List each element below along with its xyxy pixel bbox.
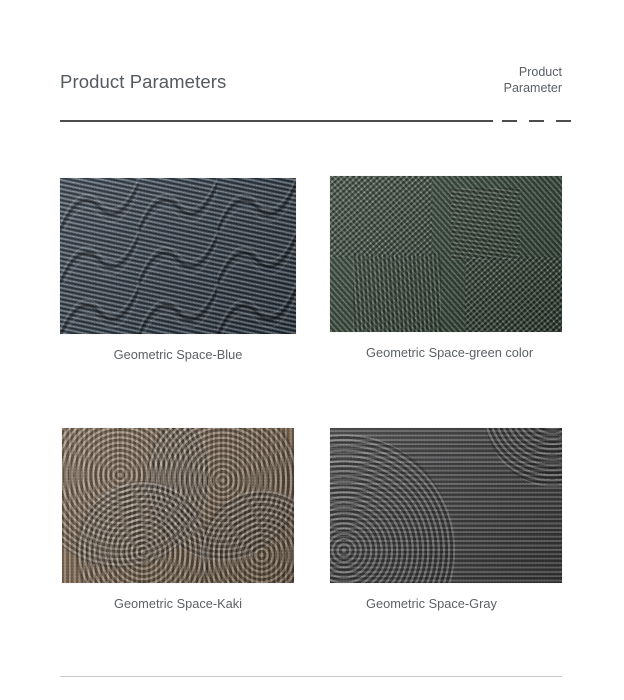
product-caption-gray: Geometric Space-Gray xyxy=(330,583,562,612)
product-swatch-blue[interactable] xyxy=(60,178,296,334)
product-card-green[interactable]: Geometric Space-green color xyxy=(330,176,562,361)
footer-divider xyxy=(60,676,562,677)
swatch-grain xyxy=(62,428,294,583)
product-caption-kaki: Geometric Space-Kaki xyxy=(62,583,294,612)
product-swatch-kaki[interactable] xyxy=(62,428,294,583)
product-swatch-green[interactable] xyxy=(330,176,562,332)
product-card-kaki[interactable]: Geometric Space-Kaki xyxy=(62,428,294,612)
product-card-blue[interactable]: Geometric Space-Blue xyxy=(60,178,296,363)
swatch-grain xyxy=(330,176,562,332)
product-caption-blue: Geometric Space-Blue xyxy=(60,334,296,363)
product-parameters-page: Product Parameters Product Parameter xyxy=(0,0,624,700)
swatch-grain xyxy=(330,428,562,583)
product-swatch-gray[interactable] xyxy=(330,428,562,583)
product-grid: Geometric Space-Blue Geometric Space-gre… xyxy=(0,0,624,700)
swatch-grain xyxy=(60,178,296,334)
product-caption-green: Geometric Space-green color xyxy=(330,332,562,361)
product-card-gray[interactable]: Geometric Space-Gray xyxy=(330,428,562,612)
